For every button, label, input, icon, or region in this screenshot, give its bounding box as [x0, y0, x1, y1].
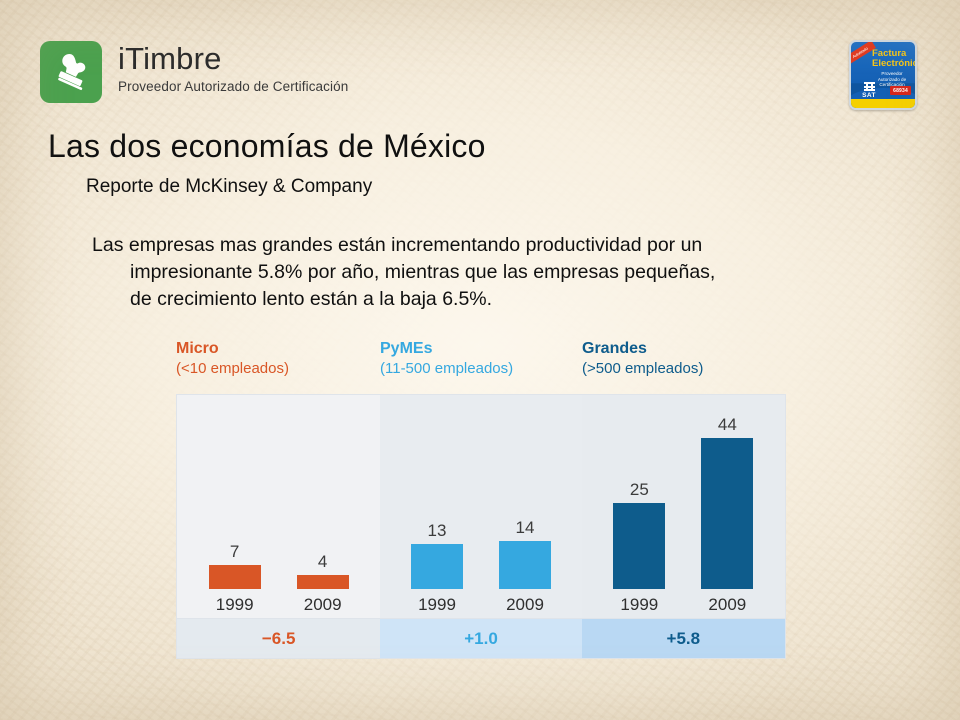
bar-item: 251999: [595, 395, 683, 618]
column-header-pymes: PyMEs(11-500 empleados): [380, 338, 582, 390]
bar-rect: [209, 565, 261, 589]
bar-item: 131999: [393, 395, 481, 618]
badge-number: 68934: [890, 86, 911, 95]
bar-value-label: 44: [718, 416, 737, 434]
chart-growth-footer: −6.5+1.0+5.8: [176, 619, 786, 659]
paragraph-line-2: impresionante 5.8% por año, mientras que…: [92, 259, 792, 286]
column-header-name: PyMEs: [380, 338, 582, 359]
bar-group-container: 7199942009: [177, 395, 380, 618]
bar-year-label: 1999: [620, 592, 658, 618]
bar-year-label: 1999: [418, 592, 456, 618]
lead-paragraph: Las empresas mas grandes están increment…: [92, 232, 792, 313]
chart-panel-pymes: 131999142009: [380, 395, 581, 618]
badge-yellow-strip: [851, 99, 915, 108]
bar-rect: [297, 575, 349, 589]
bar-value-label: 14: [516, 519, 535, 537]
bar-year-label: 2009: [506, 592, 544, 618]
paragraph-line-1: Las empresas mas grandes están increment…: [92, 234, 702, 256]
page-subtitle: Reporte de McKinsey & Company: [86, 176, 372, 198]
bar-item: 142009: [481, 395, 569, 618]
brand-tagline: Proveedor Autorizado de Certificación: [118, 79, 348, 94]
brand-name: iTimbre: [118, 43, 348, 76]
growth-cell-micro: −6.5: [177, 619, 380, 658]
chart-plot-area: 7199942009131999142009251999442009: [176, 394, 786, 619]
sat-logo: SAT: [856, 82, 882, 99]
column-header-grandes: Grandes(>500 empleados): [582, 338, 786, 390]
chart-column-headers: Micro(<10 empleados)PyMEs(11-500 emplead…: [176, 338, 786, 390]
column-header-name: Grandes: [582, 338, 786, 359]
column-header-sublabel: (<10 empleados): [176, 359, 380, 379]
bar-value-label: 25: [630, 481, 649, 499]
bar-year-label: 1999: [216, 592, 254, 618]
column-header-name: Micro: [176, 338, 380, 359]
bar-value-label: 4: [318, 553, 327, 571]
bar-item: 71999: [191, 395, 279, 618]
bar-value-label: 7: [230, 543, 239, 561]
bar-rect: [411, 544, 463, 589]
column-header-sublabel: (>500 empleados): [582, 359, 786, 379]
bar-rect: [499, 541, 551, 589]
bar-rect: [613, 503, 665, 589]
chart-panel-micro: 7199942009: [177, 395, 380, 618]
itimbre-logo-tile: [40, 41, 102, 103]
growth-cell-grandes: +5.8: [582, 619, 785, 658]
bar-group-container: 131999142009: [380, 395, 581, 618]
bar-item: 42009: [279, 395, 367, 618]
bar-rect: [701, 438, 753, 589]
bar-value-label: 13: [428, 522, 447, 540]
bar-year-label: 2009: [708, 592, 746, 618]
bar-group-container: 251999442009: [582, 395, 785, 618]
brand-text: iTimbre Proveedor Autorizado de Certific…: [118, 41, 348, 94]
sat-wordmark: SAT: [856, 92, 882, 99]
paragraph-line-3: de crecimiento lento están a la baja 6.5…: [92, 286, 792, 313]
column-header-sublabel: (11-500 empleados): [380, 359, 582, 379]
slide-canvas: iTimbre Proveedor Autorizado de Certific…: [0, 0, 960, 720]
chart-panel-grandes: 251999442009: [582, 395, 785, 618]
page-title: Las dos economías de México: [48, 128, 486, 165]
badge-line2: Electrónica: [872, 59, 917, 69]
column-header-micro: Micro(<10 empleados): [176, 338, 380, 390]
sat-grid-icon: [864, 82, 875, 91]
growth-cell-pymes: +1.0: [380, 619, 581, 658]
sat-certification-badge: Autorizado Factura Electrónica Proveedor…: [849, 40, 917, 110]
brand-lockup: iTimbre Proveedor Autorizado de Certific…: [40, 41, 348, 103]
productivity-bar-chart: Micro(<10 empleados)PyMEs(11-500 emplead…: [176, 394, 786, 659]
bar-item: 442009: [683, 395, 771, 618]
bar-year-label: 2009: [304, 592, 342, 618]
